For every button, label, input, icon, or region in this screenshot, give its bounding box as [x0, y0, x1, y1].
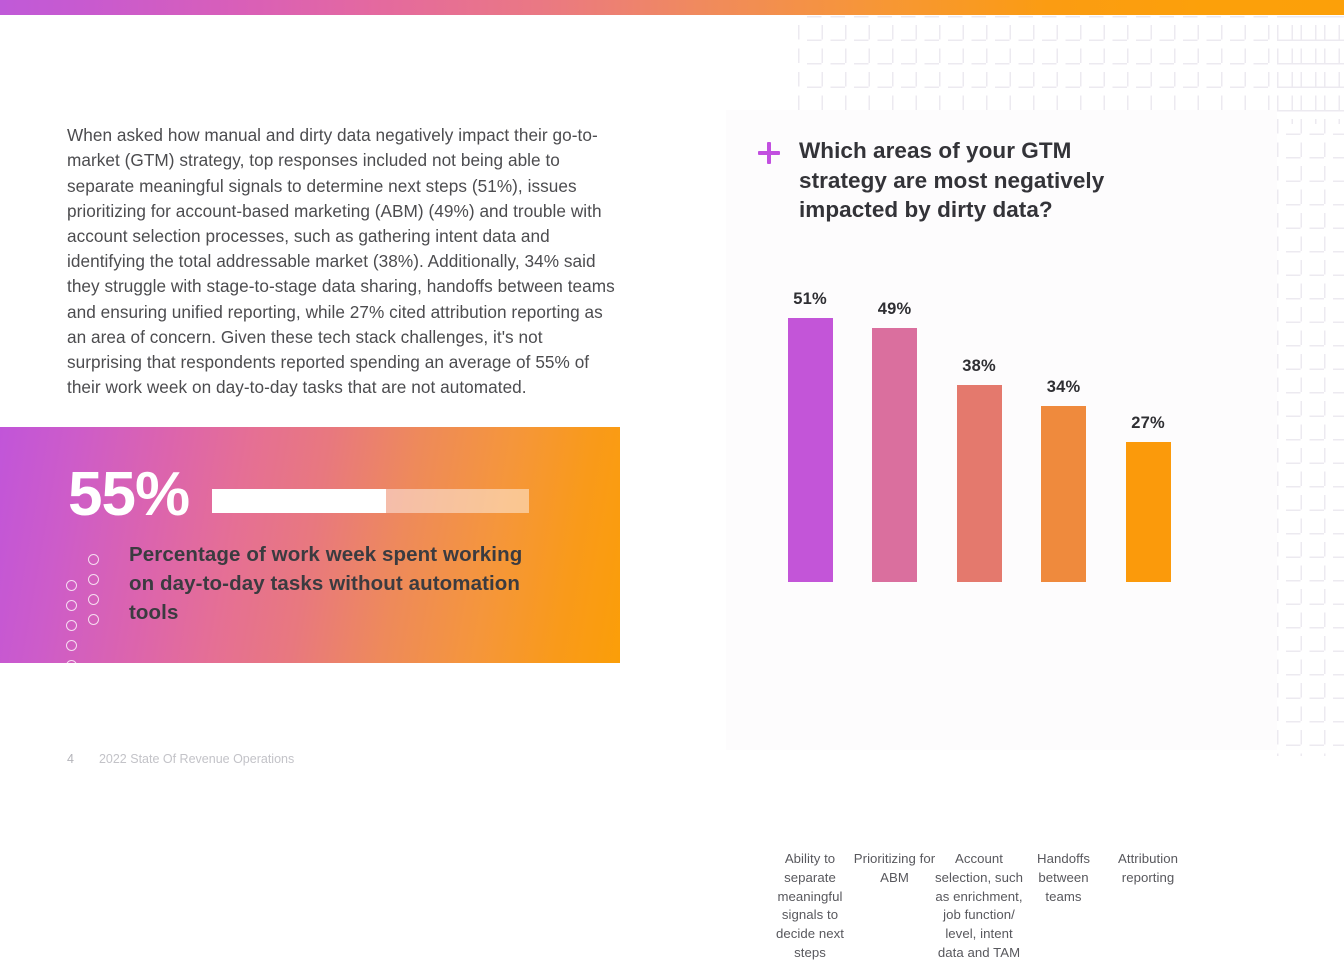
plus-grid-pattern-right — [1277, 16, 1344, 756]
bar-category-label: Handoffs between teams — [1020, 850, 1108, 906]
bar-rect[interactable] — [1126, 442, 1171, 582]
bar-category-label: Ability to separate meaningful signals t… — [766, 850, 854, 963]
plus-grid-pattern-top — [798, 16, 1344, 124]
bar-chart-plot-area: 51%Ability to separate meaningful signal… — [726, 262, 1277, 732]
stat-caption: Percentage of work week spent working on… — [129, 540, 529, 627]
bar-value-label: 27% — [1131, 414, 1165, 433]
page-footer: 4 2022 State Of Revenue Operations — [67, 752, 294, 766]
stat-row: 55% — [68, 464, 189, 526]
footer-page-number: 4 — [67, 752, 74, 766]
top-gradient-rule — [0, 0, 1344, 15]
bar-group[interactable]: 51% — [768, 290, 852, 582]
bar-value-label: 34% — [1047, 378, 1081, 397]
body-paragraph: When asked how manual and dirty data neg… — [67, 123, 615, 400]
bar-rect[interactable] — [957, 385, 1002, 582]
bar-category-label: Prioritizing for ABM — [851, 850, 939, 888]
progress-bar-fill — [212, 489, 386, 513]
bar-value-label: 51% — [793, 290, 827, 309]
bar-value-label: 38% — [962, 357, 996, 376]
bar-category-label: Attribution reporting — [1104, 850, 1192, 888]
bar-category-label: Account selection, such as enrichment, j… — [935, 850, 1023, 963]
plus-accent-icon — [758, 142, 780, 164]
footer-report-title: 2022 State Of Revenue Operations — [99, 752, 294, 766]
bar-group[interactable]: 34% — [1022, 378, 1106, 582]
bar-rect[interactable] — [1041, 406, 1086, 582]
bar-rect[interactable] — [872, 328, 917, 582]
stat-percentage: 55% — [68, 464, 189, 526]
bar-group[interactable]: 49% — [853, 300, 937, 582]
chart-title: Which areas of your GTM strategy are mos… — [799, 136, 1149, 225]
progress-bar-track — [212, 489, 529, 513]
bar-group[interactable]: 27% — [1106, 414, 1190, 582]
bar-rect[interactable] — [788, 318, 833, 582]
bar-group[interactable]: 38% — [937, 357, 1021, 582]
chart-header: Which areas of your GTM strategy are mos… — [758, 136, 1149, 225]
bar-value-label: 49% — [878, 300, 912, 319]
